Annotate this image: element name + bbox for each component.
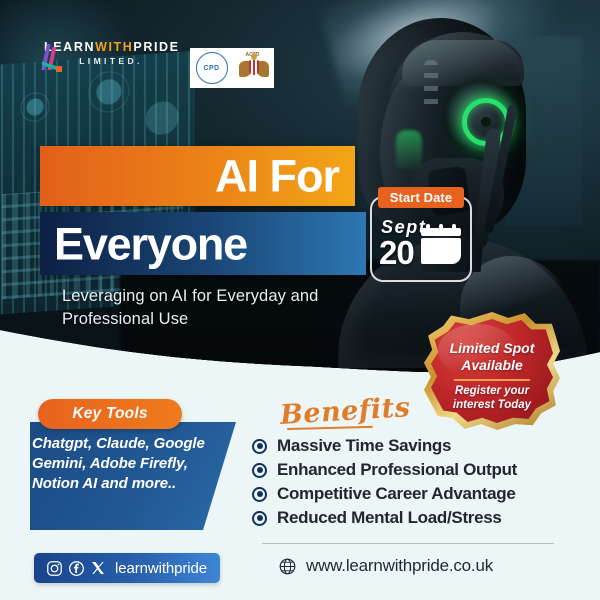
robot-illustration: [330, 8, 600, 358]
calendar-icon: [421, 228, 461, 264]
logo-mark-icon: [42, 44, 64, 78]
title-line-1: AI For: [215, 154, 339, 199]
instagram-icon[interactable]: [46, 560, 63, 577]
benefit-label: Competitive Career Advantage: [277, 484, 516, 504]
benefits-list: Massive Time Savings Enhanced Profession…: [252, 434, 582, 530]
badge-headline: Limited Spot Available: [434, 340, 550, 373]
key-tools-text: Chatgpt, Claude, Google Gemini, Adobe Fi…: [32, 434, 208, 494]
x-icon[interactable]: [90, 560, 106, 576]
logo-wordmark: LEARNWITHPRIDE: [44, 40, 184, 54]
benefit-label: Enhanced Professional Output: [277, 460, 517, 480]
badge-divider: [454, 379, 530, 381]
benefit-label: Massive Time Savings: [277, 436, 451, 456]
social-handle-label: learnwithpride: [115, 560, 207, 577]
badge-subline: Register your interest Today: [434, 385, 550, 413]
hero-subtitle: Leveraging on AI for Everyday and Profes…: [62, 285, 362, 331]
accreditation-badges: CPD ACTD: [190, 48, 274, 88]
start-date-label: Start Date: [390, 190, 452, 205]
robot-head-highlight: [388, 32, 538, 112]
benefit-item: Enhanced Professional Output: [252, 458, 582, 482]
limited-spot-badge[interactable]: Limited Spot Available Register your int…: [424, 312, 560, 430]
benefit-item: Reduced Mental Load/Stress: [252, 506, 582, 530]
poster-canvas: LEARNWITHPRIDE LIMITED. CPD ACTD AI For …: [0, 0, 600, 600]
website-url: www.learnwithpride.co.uk: [306, 556, 493, 576]
bullet-icon: [252, 463, 267, 478]
benefit-label: Reduced Mental Load/Stress: [277, 508, 502, 528]
benefit-item: Massive Time Savings: [252, 434, 582, 458]
logo-subtext: LIMITED.: [44, 56, 184, 66]
bullet-icon: [252, 439, 267, 454]
robot-green-glow: [396, 130, 422, 172]
start-date-pill: Start Date: [378, 187, 464, 208]
social-handle-bar[interactable]: learnwithpride: [34, 553, 220, 583]
actd-eagle-badge-icon: ACTD: [239, 52, 269, 84]
title-block-primary: AI For: [40, 146, 355, 206]
globe-icon: [278, 557, 297, 576]
company-logo[interactable]: LEARNWITHPRIDE LIMITED.: [44, 40, 184, 66]
footer-divider: [262, 543, 554, 544]
facebook-icon[interactable]: [68, 560, 85, 577]
logo-word-with: WITH: [95, 40, 133, 54]
title-line-2: Everyone: [54, 221, 247, 266]
robot-pupil: [481, 117, 491, 127]
bullet-icon: [252, 511, 267, 526]
logo-word-pride: PRIDE: [133, 40, 179, 54]
start-date-card: Start Date Sept 20: [370, 196, 472, 282]
benefit-item: Competitive Career Advantage: [252, 482, 582, 506]
cpd-badge-label: CPD: [204, 65, 220, 72]
title-block-secondary: Everyone: [40, 212, 366, 275]
key-tools-pill: Key Tools: [38, 399, 182, 429]
key-tools-label: Key Tools: [72, 405, 147, 423]
benefits-heading: Benefits: [279, 392, 411, 431]
bullet-icon: [252, 487, 267, 502]
cpd-badge-icon: CPD: [196, 52, 228, 84]
start-date-day: 20: [379, 236, 414, 269]
website-link[interactable]: www.learnwithpride.co.uk: [278, 556, 493, 576]
